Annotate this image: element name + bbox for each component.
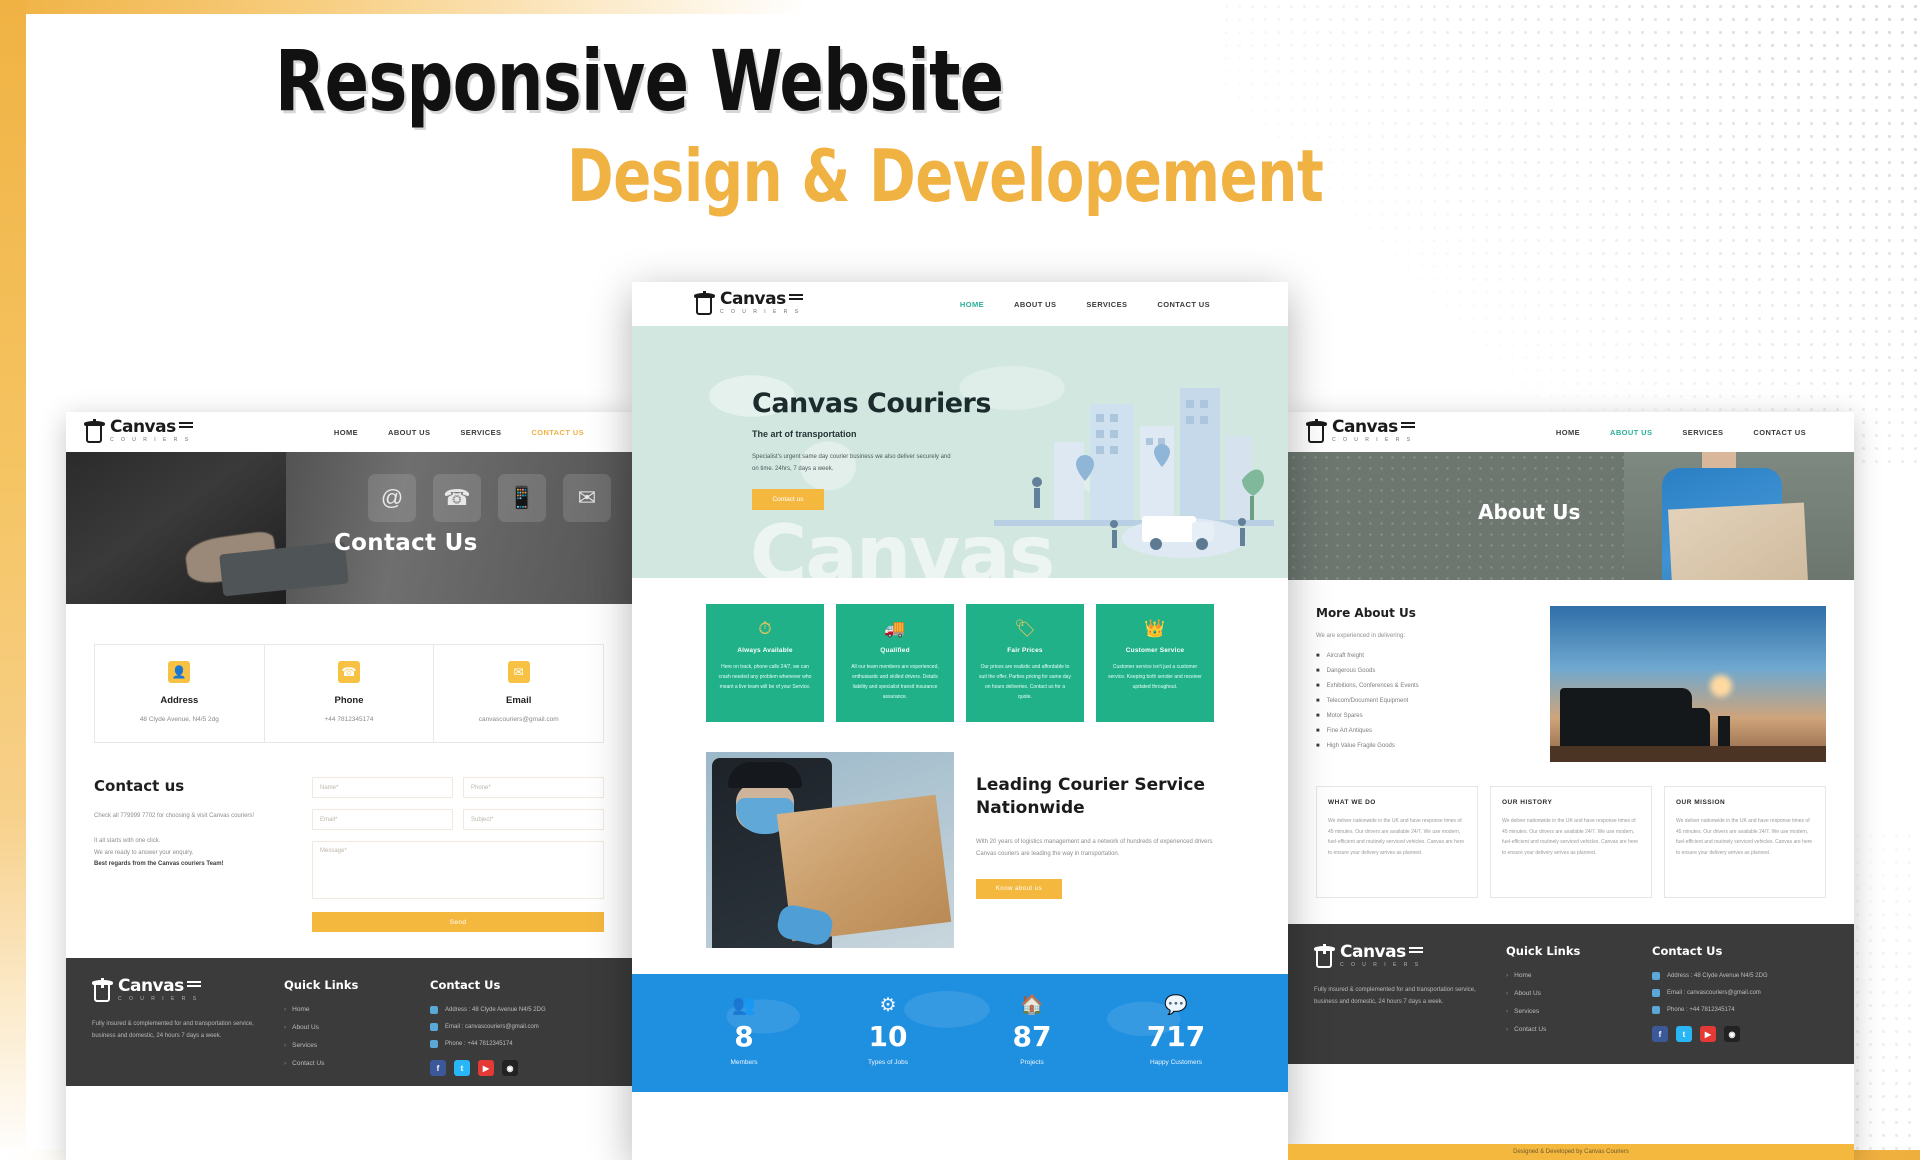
truck-cabin	[1672, 708, 1710, 748]
courier-cap	[728, 762, 802, 788]
chevron-right-icon: ›	[284, 1024, 286, 1031]
contact-footer: Canvas C O U R I E R S Fully insured & c…	[66, 958, 632, 1086]
list-item: ■Telecom/Document Equipment	[1316, 698, 1528, 704]
feature-card-fair-prices[interactable]: 🏷 Fair Prices Our prices are realistic a…	[966, 604, 1084, 722]
info-box-title: WHAT WE DO	[1328, 799, 1466, 806]
home-hero-text: Specialist's urgent same day courier bus…	[752, 451, 952, 475]
info-box-our-history[interactable]: OUR HISTORY We deliver nationwide in the…	[1490, 786, 1652, 898]
footer-link-services[interactable]: ›Services	[284, 1042, 404, 1049]
address-card-icon: 👤	[168, 661, 190, 683]
stat-label: Types of Jobs	[816, 1059, 960, 1066]
message-textarea[interactable]: Message*	[312, 841, 604, 899]
home-feature-cards: ⏱ Always Available Here on track, phone …	[632, 578, 1288, 722]
chevron-right-icon: ›	[284, 1006, 286, 1013]
stat-label: Projects	[960, 1059, 1104, 1066]
about-text-column: More About Us We are experienced in deli…	[1316, 606, 1528, 762]
envelope-icon: ✉	[563, 474, 611, 522]
nav-item-about[interactable]: About Us	[1014, 300, 1056, 309]
footer-link-label: Contact Us	[1514, 1026, 1546, 1033]
card-title: Email	[442, 695, 595, 706]
stat-value: 8	[672, 1023, 816, 1051]
footer-link-home[interactable]: ›Home	[1506, 972, 1626, 979]
info-box-text: We deliver nationwide in the UK and have…	[1676, 816, 1814, 858]
brand-word: Canvas	[1340, 942, 1406, 962]
feature-text: Here on track, phone calls 24/7, we can …	[718, 662, 812, 692]
contact-form-copy: Contact us Check all 779999 7702 for cho…	[94, 777, 294, 932]
stat-types-of-jobs: ⚙ 10 Types of Jobs	[816, 996, 960, 1066]
footer-link-label: About Us	[1514, 990, 1541, 997]
footer-quick-links-title: Quick Links	[284, 978, 404, 992]
phone-card-icon: ☎	[338, 661, 360, 683]
sunset-sun	[1710, 675, 1732, 697]
brand-word: Canvas	[720, 289, 786, 309]
card-value: 48 Clyde Avenue, N4/5 2dg	[103, 715, 256, 724]
footer-social-row[interactable]: f t ▶ ◉	[1652, 1026, 1828, 1042]
price-tag-icon: 🏷	[978, 620, 1072, 637]
about-nav-links[interactable]: Home About Us Services Contact Us	[1556, 428, 1806, 437]
footer-link-label: About Us	[292, 1024, 319, 1031]
footer-contact-phone: Phone : +44 7812345174	[1652, 1006, 1828, 1014]
bullet-icon: ■	[1316, 743, 1320, 749]
footer-contact-text: Phone : +44 7812345174	[1667, 1007, 1735, 1013]
members-icon: 👥	[672, 996, 816, 1015]
mockup-about-page[interactable]: Canvas C O U R I E R S Home About Us Ser…	[1288, 412, 1854, 1160]
nav-item-services[interactable]: Services	[1086, 300, 1127, 309]
canvas-box-icon	[1314, 944, 1336, 970]
brand-tick-icon	[1409, 947, 1423, 953]
know-about-us-button[interactable]: Know about us	[976, 879, 1062, 899]
clock-icon: ⏱	[718, 620, 812, 637]
bullet-label: Aircraft freight	[1327, 653, 1364, 659]
home-hero-title: Canvas Couriers	[752, 388, 1002, 419]
hero-contact-button[interactable]: Contact us	[752, 489, 824, 510]
nav-item-contact[interactable]: Contact Us	[531, 428, 584, 437]
footer-link-contact[interactable]: ›Contact Us	[1506, 1026, 1626, 1033]
twitter-icon[interactable]: t	[454, 1060, 470, 1076]
nav-item-home[interactable]: Home	[1556, 428, 1580, 437]
info-box-title: OUR MISSION	[1676, 799, 1814, 806]
about-section-title: More About Us	[1316, 606, 1528, 620]
footer-contact-text: Email : canvascouriers@gmail.com	[445, 1024, 539, 1030]
list-item: ■Exhibitions, Conferences & Events	[1316, 683, 1528, 689]
feature-text: All our team members are experienced, en…	[848, 662, 942, 702]
footer-link-services[interactable]: ›Services	[1506, 1008, 1626, 1015]
contact-site-header: Canvas C O U R I E R S Home About Us Ser…	[66, 412, 632, 452]
footer-link-label: Contact Us	[292, 1060, 324, 1067]
contact-card-address[interactable]: 👤 Address 48 Clyde Avenue, N4/5 2dg	[94, 644, 265, 743]
footer-link-home[interactable]: ›Home	[284, 1006, 404, 1013]
home-lead-copy: Leading Courier Service Nationwide With …	[976, 752, 1214, 948]
feature-text: Customer service isn't just a customer s…	[1108, 662, 1202, 692]
stat-members: 👥 8 Members	[672, 996, 816, 1066]
canvas-box-icon	[694, 291, 716, 317]
about-footer: Canvas C O U R I E R S Fully insured & c…	[1288, 924, 1854, 1064]
contact-hero-icon-row: @ ☎ 📱 ✉	[368, 474, 611, 522]
footer-contact-text: Address : 48 Clyde Avenue N4/5 2DG	[1667, 973, 1768, 979]
youtube-icon[interactable]: ▶	[478, 1060, 494, 1076]
footer-brand-logo[interactable]: Canvas C O U R I E R S	[92, 978, 258, 1004]
home-lead-section: Leading Courier Service Nationwide With …	[632, 722, 1288, 948]
chevron-right-icon: ›	[1506, 1026, 1508, 1033]
about-site-header: Canvas C O U R I E R S Home About Us Ser…	[1288, 412, 1854, 452]
brand-tick-icon	[1401, 422, 1415, 428]
brand-subtitle: C O U R I E R S	[1332, 438, 1415, 443]
chevron-right-icon: ›	[1506, 972, 1508, 979]
headline-line-1: Responsive Website	[275, 42, 1383, 122]
brand-logo[interactable]: Canvas C O U R I E R S	[694, 291, 803, 317]
contact-card-phone[interactable]: ☎ Phone +44 7812345174	[265, 644, 435, 743]
footer-link-label: Services	[1514, 1008, 1539, 1015]
footer-description: Fully insured & complemented for and tra…	[1314, 984, 1480, 1008]
phone-icon	[1652, 1006, 1660, 1014]
ground-strip	[1550, 746, 1826, 762]
contact-nav-links[interactable]: Home About Us Services Contact Us	[334, 428, 584, 437]
nav-item-about[interactable]: About Us	[388, 428, 430, 437]
stat-projects: 🏠 87 Projects	[960, 996, 1104, 1066]
chevron-right-icon: ›	[1506, 990, 1508, 997]
subject-input[interactable]: Subject*	[463, 809, 604, 830]
feature-title: Customer Service	[1108, 647, 1202, 654]
brand-word: Canvas	[110, 417, 176, 437]
nav-item-home[interactable]: Home	[334, 428, 358, 437]
info-box-our-mission[interactable]: OUR MISSION We deliver nationwide in the…	[1664, 786, 1826, 898]
about-hero-banner: About Us	[1288, 452, 1854, 580]
bullet-label: High Value Fragile Goods	[1327, 743, 1395, 749]
brand-subtitle: C O U R I E R S	[118, 997, 201, 1002]
contact-hero-title: Contact Us	[334, 530, 478, 556]
contact-info-cards: 👤 Address 48 Clyde Avenue, N4/5 2dg ☎ Ph…	[94, 644, 604, 743]
footer-link-about[interactable]: ›About Us	[1506, 990, 1626, 997]
jobs-icon: ⚙	[816, 996, 960, 1015]
facebook-icon[interactable]: f	[1652, 1026, 1668, 1042]
nav-item-contact[interactable]: Contact Us	[1753, 428, 1806, 437]
location-pin-icon	[1652, 972, 1660, 980]
home-stats-band: 👥 8 Members ⚙ 10 Types of Jobs 🏠 87 Proj…	[632, 974, 1288, 1092]
brand-tick-icon	[187, 981, 201, 987]
nav-item-about[interactable]: About Us	[1610, 428, 1652, 437]
feature-text: Our prices are realistic and affordable …	[978, 662, 1072, 702]
phone-input[interactable]: Phone*	[463, 777, 604, 798]
chevron-right-icon: ›	[284, 1060, 286, 1067]
stat-value: 717	[1104, 1023, 1248, 1051]
contact-form-fields[interactable]: Name* Phone* Email* Subject* Message* Se…	[312, 777, 604, 932]
feature-card-always-available[interactable]: ⏱ Always Available Here on track, phone …	[706, 604, 824, 722]
mockup-contact-page[interactable]: Canvas C O U R I E R S Home About Us Ser…	[66, 412, 632, 1160]
home-nav-links[interactable]: Home About Us Services Contact Us	[960, 300, 1210, 309]
chevron-right-icon: ›	[284, 1042, 286, 1049]
poster-headline: Responsive Website Design & Developement	[275, 42, 1695, 212]
brand-logo[interactable]: Canvas C O U R I E R S	[84, 419, 193, 445]
bullet-label: Telecom/Document Equipment	[1327, 698, 1409, 704]
stat-happy-customers: 💬 717 Happy Customers	[1104, 996, 1248, 1066]
poster-credit-bar: Designed & Developed by Canvas Couriers	[1288, 1144, 1854, 1160]
stat-value: 10	[816, 1023, 960, 1051]
footer-social-row[interactable]: f t ▶ ◉	[430, 1060, 606, 1076]
nav-item-home[interactable]: Home	[960, 300, 984, 309]
nav-item-services[interactable]: Services	[1682, 428, 1723, 437]
info-box-text: We deliver nationwide in the UK and have…	[1502, 816, 1640, 858]
footer-contact-title: Contact Us	[1652, 944, 1828, 958]
footer-link-label: Home	[292, 1006, 309, 1013]
courier-with-box-photo	[706, 752, 954, 948]
mockup-home-page[interactable]: Canvas C O U R I E R S Home About Us Ser…	[632, 282, 1288, 1160]
card-value: +44 7812345174	[273, 715, 426, 724]
twitter-icon[interactable]: t	[1676, 1026, 1692, 1042]
bullet-label: Motor Spares	[1327, 713, 1363, 719]
about-bullet-list: ■Aircraft freight ■Dangerous Goods ■Exhi…	[1316, 653, 1528, 749]
send-button[interactable]: Send	[312, 912, 604, 932]
about-truck-photo	[1550, 606, 1826, 762]
brand-subtitle: C O U R I E R S	[110, 438, 193, 443]
footer-contact-email: Email : canvascouriers@gmail.com	[1652, 989, 1828, 997]
email-input[interactable]: Email*	[312, 809, 453, 830]
card-title: Address	[103, 695, 256, 706]
envelope-icon	[430, 1023, 438, 1031]
list-item: ■Dangerous Goods	[1316, 668, 1528, 674]
customers-icon: 💬	[1104, 996, 1248, 1015]
projects-icon: 🏠	[960, 996, 1104, 1015]
bullet-icon: ■	[1316, 698, 1320, 704]
home-hero-subtitle: The art of transportation	[752, 429, 1002, 439]
footer-contact-phone: Phone : +44 7812345174	[430, 1040, 606, 1048]
left-gold-edge	[0, 0, 26, 1160]
at-sign-icon: @	[368, 474, 416, 522]
canvas-box-icon	[1306, 419, 1328, 445]
home-hero-banner: Canvas Canvas Couriers The art of transp…	[632, 326, 1288, 578]
bullet-label: Fine Art Antiques	[1327, 728, 1372, 734]
home-site-header: Canvas C O U R I E R S Home About Us Ser…	[632, 282, 1288, 326]
footer-contact-email: Email : canvascouriers@gmail.com	[430, 1023, 606, 1031]
info-box-title: OUR HISTORY	[1502, 799, 1640, 806]
canvas-box-icon	[92, 978, 114, 1004]
brand-tick-icon	[179, 422, 193, 428]
hero-package	[1668, 502, 1808, 580]
about-main-section: More About Us We are experienced in deli…	[1288, 580, 1854, 762]
contact-hero-banner: @ ☎ 📱 ✉ Contact Us	[66, 452, 632, 604]
bullet-icon: ■	[1316, 728, 1320, 734]
bullet-icon: ■	[1316, 713, 1320, 719]
lead-title: Leading Courier Service Nationwide	[976, 774, 1214, 820]
footer-contact-address: Address : 48 Clyde Avenue N4/5 2DG	[430, 1006, 606, 1014]
location-pin-icon	[430, 1006, 438, 1014]
home-hero-copy: Canvas Couriers The art of transportatio…	[752, 388, 1002, 510]
worker-silhouette	[1718, 716, 1730, 746]
facebook-icon[interactable]: f	[430, 1060, 446, 1076]
contact-form-intro: Check all 779999 7702 for choosing & vis…	[94, 811, 294, 822]
bullet-icon: ■	[1316, 683, 1320, 689]
footer-link-contact[interactable]: ›Contact Us	[284, 1060, 404, 1067]
city-illustration	[994, 370, 1274, 570]
footer-contact-text: Email : canvascouriers@gmail.com	[1667, 990, 1761, 996]
name-input[interactable]: Name*	[312, 777, 453, 798]
about-section-subtitle: We are experienced in delivering:	[1316, 633, 1528, 639]
footer-link-label: Services	[292, 1042, 317, 1049]
footer-quick-links-title: Quick Links	[1506, 944, 1626, 958]
brand-subtitle: C O U R I E R S	[1340, 963, 1423, 968]
feature-card-qualified[interactable]: 🚚 Qualified All our team members are exp…	[836, 604, 954, 722]
crown-icon: 👑	[1108, 620, 1202, 637]
feature-title: Always Available	[718, 647, 812, 654]
nav-item-services[interactable]: Services	[460, 428, 501, 437]
stat-label: Happy Customers	[1104, 1059, 1248, 1066]
footer-link-label: Home	[1514, 972, 1531, 979]
contact-form-line-1: It all starts with one click.	[94, 836, 294, 847]
instagram-icon[interactable]: ◉	[1724, 1026, 1740, 1042]
list-item: ■Fine Art Antiques	[1316, 728, 1528, 734]
bullet-label: Dangerous Goods	[1327, 668, 1376, 674]
headline-line-2: Design & Developement	[567, 140, 1447, 212]
poster-canvas: Responsive Website Design & Developement…	[0, 0, 1920, 1160]
lead-text: With 20 years of logistics management an…	[976, 836, 1214, 861]
instagram-icon[interactable]: ◉	[502, 1060, 518, 1076]
canvas-box-icon	[84, 419, 106, 445]
bullet-icon: ■	[1316, 653, 1320, 659]
list-item: ■Motor Spares	[1316, 713, 1528, 719]
phone-icon	[430, 1040, 438, 1048]
about-info-boxes: WHAT WE DO We deliver nationwide in the …	[1288, 762, 1854, 898]
contact-form-section: Contact us Check all 779999 7702 for cho…	[94, 777, 604, 932]
phone-icon: ☎	[433, 474, 481, 522]
bullet-icon: ■	[1316, 668, 1320, 674]
email-card-icon: ✉	[508, 661, 530, 683]
bullet-label: Exhibitions, Conferences & Events	[1327, 683, 1419, 689]
stat-label: Members	[672, 1059, 816, 1066]
card-value: canvascouriers@gmail.com	[442, 715, 595, 724]
list-item: ■Aircraft freight	[1316, 653, 1528, 659]
brand-word: Canvas	[118, 976, 184, 996]
card-title: Phone	[273, 695, 426, 706]
contact-form-title: Contact us	[94, 777, 294, 795]
contact-form-line-2: We are ready to answer your enquiry.	[94, 848, 294, 859]
brand-word: Canvas	[1332, 417, 1398, 437]
feature-title: Qualified	[848, 647, 942, 654]
footer-contact-address: Address : 48 Clyde Avenue N4/5 2DG	[1652, 972, 1828, 980]
footer-contact-text: Address : 48 Clyde Avenue N4/5 2DG	[445, 1007, 546, 1013]
mobile-icon: 📱	[498, 474, 546, 522]
footer-contact-text: Phone : +44 7812345174	[445, 1041, 513, 1047]
info-box-what-we-do[interactable]: WHAT WE DO We deliver nationwide in the …	[1316, 786, 1478, 898]
nav-item-contact[interactable]: Contact Us	[1157, 300, 1210, 309]
stat-value: 87	[960, 1023, 1104, 1051]
chevron-right-icon: ›	[1506, 1008, 1508, 1015]
about-hero-title: About Us	[1478, 500, 1580, 524]
footer-brand-logo[interactable]: Canvas C O U R I E R S	[1314, 944, 1480, 970]
truck-icon: 🚚	[848, 620, 942, 637]
list-item: ■High Value Fragile Goods	[1316, 743, 1528, 749]
footer-link-about[interactable]: ›About Us	[284, 1024, 404, 1031]
feature-card-customer-service[interactable]: 👑 Customer Service Customer service isn'…	[1096, 604, 1214, 722]
contact-card-email[interactable]: ✉ Email canvascouriers@gmail.com	[434, 644, 604, 743]
footer-description: Fully insured & complemented for and tra…	[92, 1018, 258, 1042]
brand-tick-icon	[789, 294, 803, 300]
info-box-text: We deliver nationwide in the UK and have…	[1328, 816, 1466, 858]
feature-title: Fair Prices	[978, 647, 1072, 654]
footer-contact-title: Contact Us	[430, 978, 606, 992]
envelope-icon	[1652, 989, 1660, 997]
brand-subtitle: C O U R I E R S	[720, 310, 803, 315]
contact-form-line-3: Best regards from the Canvas couriers Te…	[94, 859, 294, 870]
brand-logo[interactable]: Canvas C O U R I E R S	[1306, 419, 1415, 445]
youtube-icon[interactable]: ▶	[1700, 1026, 1716, 1042]
